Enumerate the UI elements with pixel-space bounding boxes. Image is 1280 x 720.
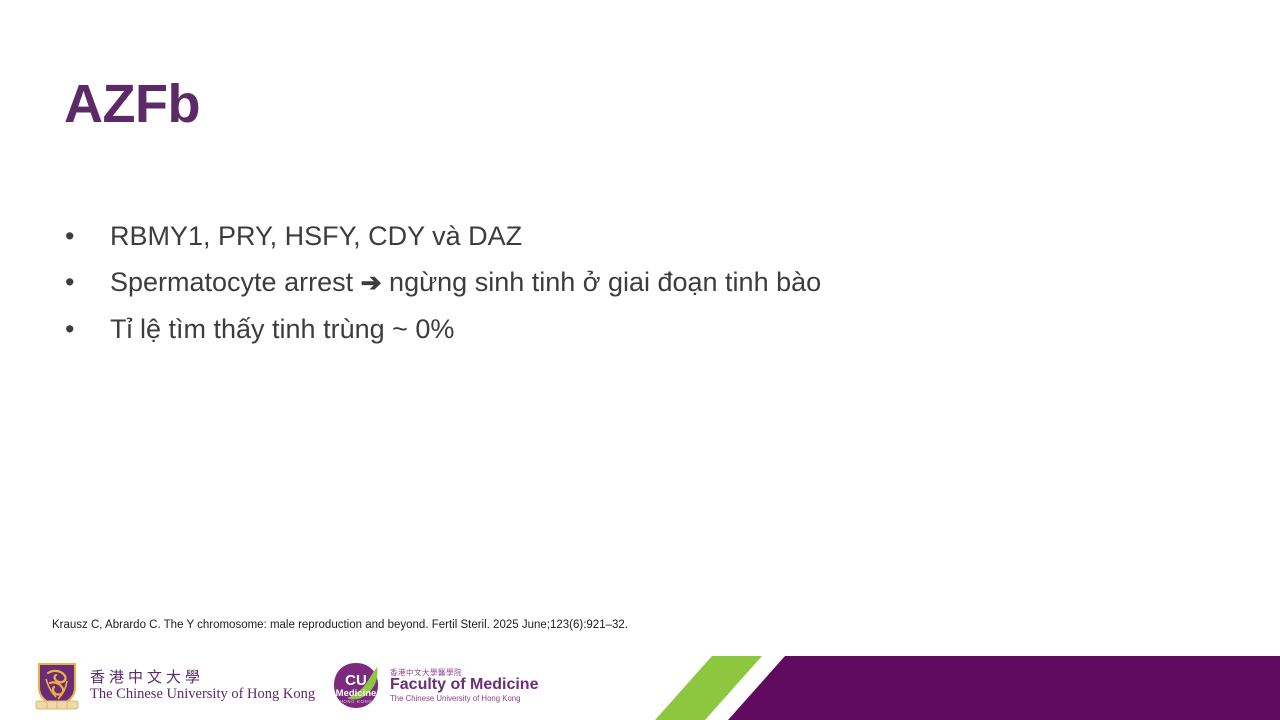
bullet-item-2: • Spermatocyte arrest ➔ ngừng sinh tinh … (60, 264, 1120, 301)
cu-medicine-word: Medicine (336, 688, 377, 699)
cuhk-logo: 香港中文大學 The Chinese University of Hong Ko… (34, 661, 315, 711)
cu-medicine-locale: HONG KONG (340, 699, 373, 704)
cu-medicine-initials: CU (345, 672, 367, 689)
bullet-marker-icon: • (60, 264, 110, 300)
bullet-list: • RBMY1, PRY, HSFY, CDY và DAZ • Spermat… (60, 218, 1120, 357)
cu-medicine-english-sub: The Chinese University of Hong Kong (390, 695, 538, 703)
cuhk-english-name: The Chinese University of Hong Kong (90, 687, 315, 703)
right-arrow-icon: ➔ (361, 269, 382, 297)
bullet-item-3: • Tỉ lệ tìm thấy tinh trùng ~ 0% (60, 311, 1120, 347)
cuhk-shield-icon (34, 661, 80, 711)
cu-medicine-mark-icon: CU Medicine HONG KONG (330, 661, 382, 711)
cuhk-wordmark: 香港中文大學 The Chinese University of Hong Ko… (90, 669, 315, 702)
bullet-item-1: • RBMY1, PRY, HSFY, CDY và DAZ (60, 218, 1120, 254)
cu-medicine-english-name: Faculty of Medicine (390, 677, 538, 694)
slide-canvas: AZFb • RBMY1, PRY, HSFY, CDY và DAZ • Sp… (0, 0, 1280, 720)
cu-medicine-chinese-name: 香港中文大學醫學院 (390, 669, 538, 677)
citation-reference: Krausz C, Abrardo C. The Y chromosome: m… (52, 619, 628, 631)
cuhk-chinese-name: 香港中文大學 (90, 669, 315, 686)
bullet-text-1: RBMY1, PRY, HSFY, CDY và DAZ (110, 218, 522, 254)
bullet-marker-icon: • (60, 218, 110, 254)
cu-medicine-logo: CU Medicine HONG KONG 香港中文大學醫學院 Faculty … (330, 661, 538, 711)
slide-title: AZFb (64, 76, 200, 133)
bullet-marker-icon: • (60, 311, 110, 347)
bullet-text-2: Spermatocyte arrest ➔ ngừng sinh tinh ở … (110, 264, 821, 301)
footer-green-stripe (655, 656, 762, 720)
bullet-text-2-before: Spermatocyte arrest (110, 267, 361, 297)
footer-purple-shape (728, 656, 1280, 720)
bullet-text-2-after: ngừng sinh tinh ở giai đoạn tinh bào (382, 267, 822, 297)
cu-medicine-wordmark: 香港中文大學醫學院 Faculty of Medicine The Chines… (390, 669, 538, 704)
bullet-text-3: Tỉ lệ tìm thấy tinh trùng ~ 0% (110, 311, 454, 347)
